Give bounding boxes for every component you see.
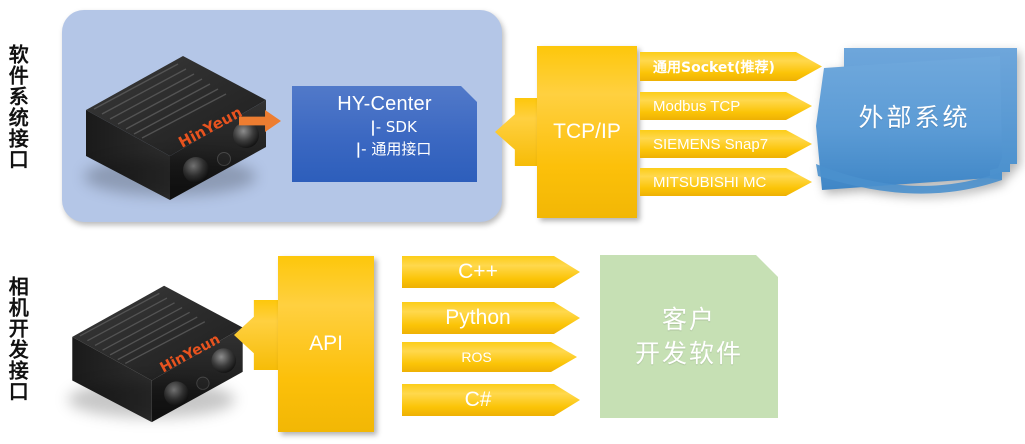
hy-center-line-sdk: |- SDK	[292, 117, 477, 139]
language-arrow-csharp-label: C#	[465, 388, 492, 412]
language-arrow-ros[interactable]: ROS	[402, 342, 577, 372]
language-arrow-python[interactable]: Python	[402, 302, 580, 334]
hy-center-title: HY-Center	[292, 92, 477, 117]
hy-center-line-generic-interface: |- 通用接口	[292, 139, 477, 161]
protocol-arrow-socket-label: 通用Socket(推荐)	[653, 57, 775, 77]
hy-center-line-sdk-text: - SDK	[376, 118, 417, 136]
camera-device-top: HinYeun	[78, 52, 273, 202]
section-label-camera-development-interface: 相机开发接口	[6, 276, 27, 402]
protocol-arrow-mitsubishi-mc-label: MITSUBISHI MC	[653, 174, 766, 191]
api-label: API	[309, 332, 343, 356]
tcpip-label: TCP/IP	[553, 120, 621, 144]
hy-center-box[interactable]: HY-Center |- SDK |- 通用接口	[292, 86, 477, 182]
protocol-arrow-modbus-tcp-label: Modbus TCP	[653, 98, 740, 115]
language-arrow-python-label: Python	[445, 306, 510, 330]
language-arrow-csharp[interactable]: C#	[402, 384, 580, 416]
api-column-box[interactable]: API	[278, 256, 374, 432]
camera-shadow	[84, 157, 256, 196]
camera-device-bottom: HinYeun	[62, 282, 252, 424]
customer-development-software-box[interactable]: 客户 开发软件	[600, 255, 778, 418]
external-system-label: 外部系统	[812, 98, 1017, 134]
language-arrow-cpp-label: C++	[458, 260, 498, 284]
protocol-arrow-siemens-snap7-label: SIEMENS Snap7	[653, 136, 768, 153]
section-label-software-system-interface: 软件系统接口	[6, 44, 27, 170]
protocol-arrow-siemens-snap7[interactable]: SIEMENS Snap7	[640, 130, 812, 158]
protocol-arrow-modbus-tcp[interactable]: Modbus TCP	[640, 92, 812, 120]
diagram-canvas: 软件系统接口	[0, 0, 1025, 444]
external-system-box[interactable]: 外部系统	[812, 46, 1017, 206]
protocol-arrow-socket[interactable]: 通用Socket(推荐)	[640, 52, 822, 81]
protocol-arrow-mitsubishi-mc[interactable]: MITSUBISHI MC	[640, 168, 812, 196]
hy-center-line-generic-interface-text: - 通用接口	[361, 140, 431, 158]
customer-box-line-1: 客户	[662, 303, 716, 337]
tcpip-column-box[interactable]: TCP/IP	[537, 46, 637, 218]
language-arrow-ros-label: ROS	[461, 349, 491, 365]
language-arrow-cpp[interactable]: C++	[402, 256, 580, 288]
customer-box-line-2: 开发软件	[635, 337, 743, 371]
